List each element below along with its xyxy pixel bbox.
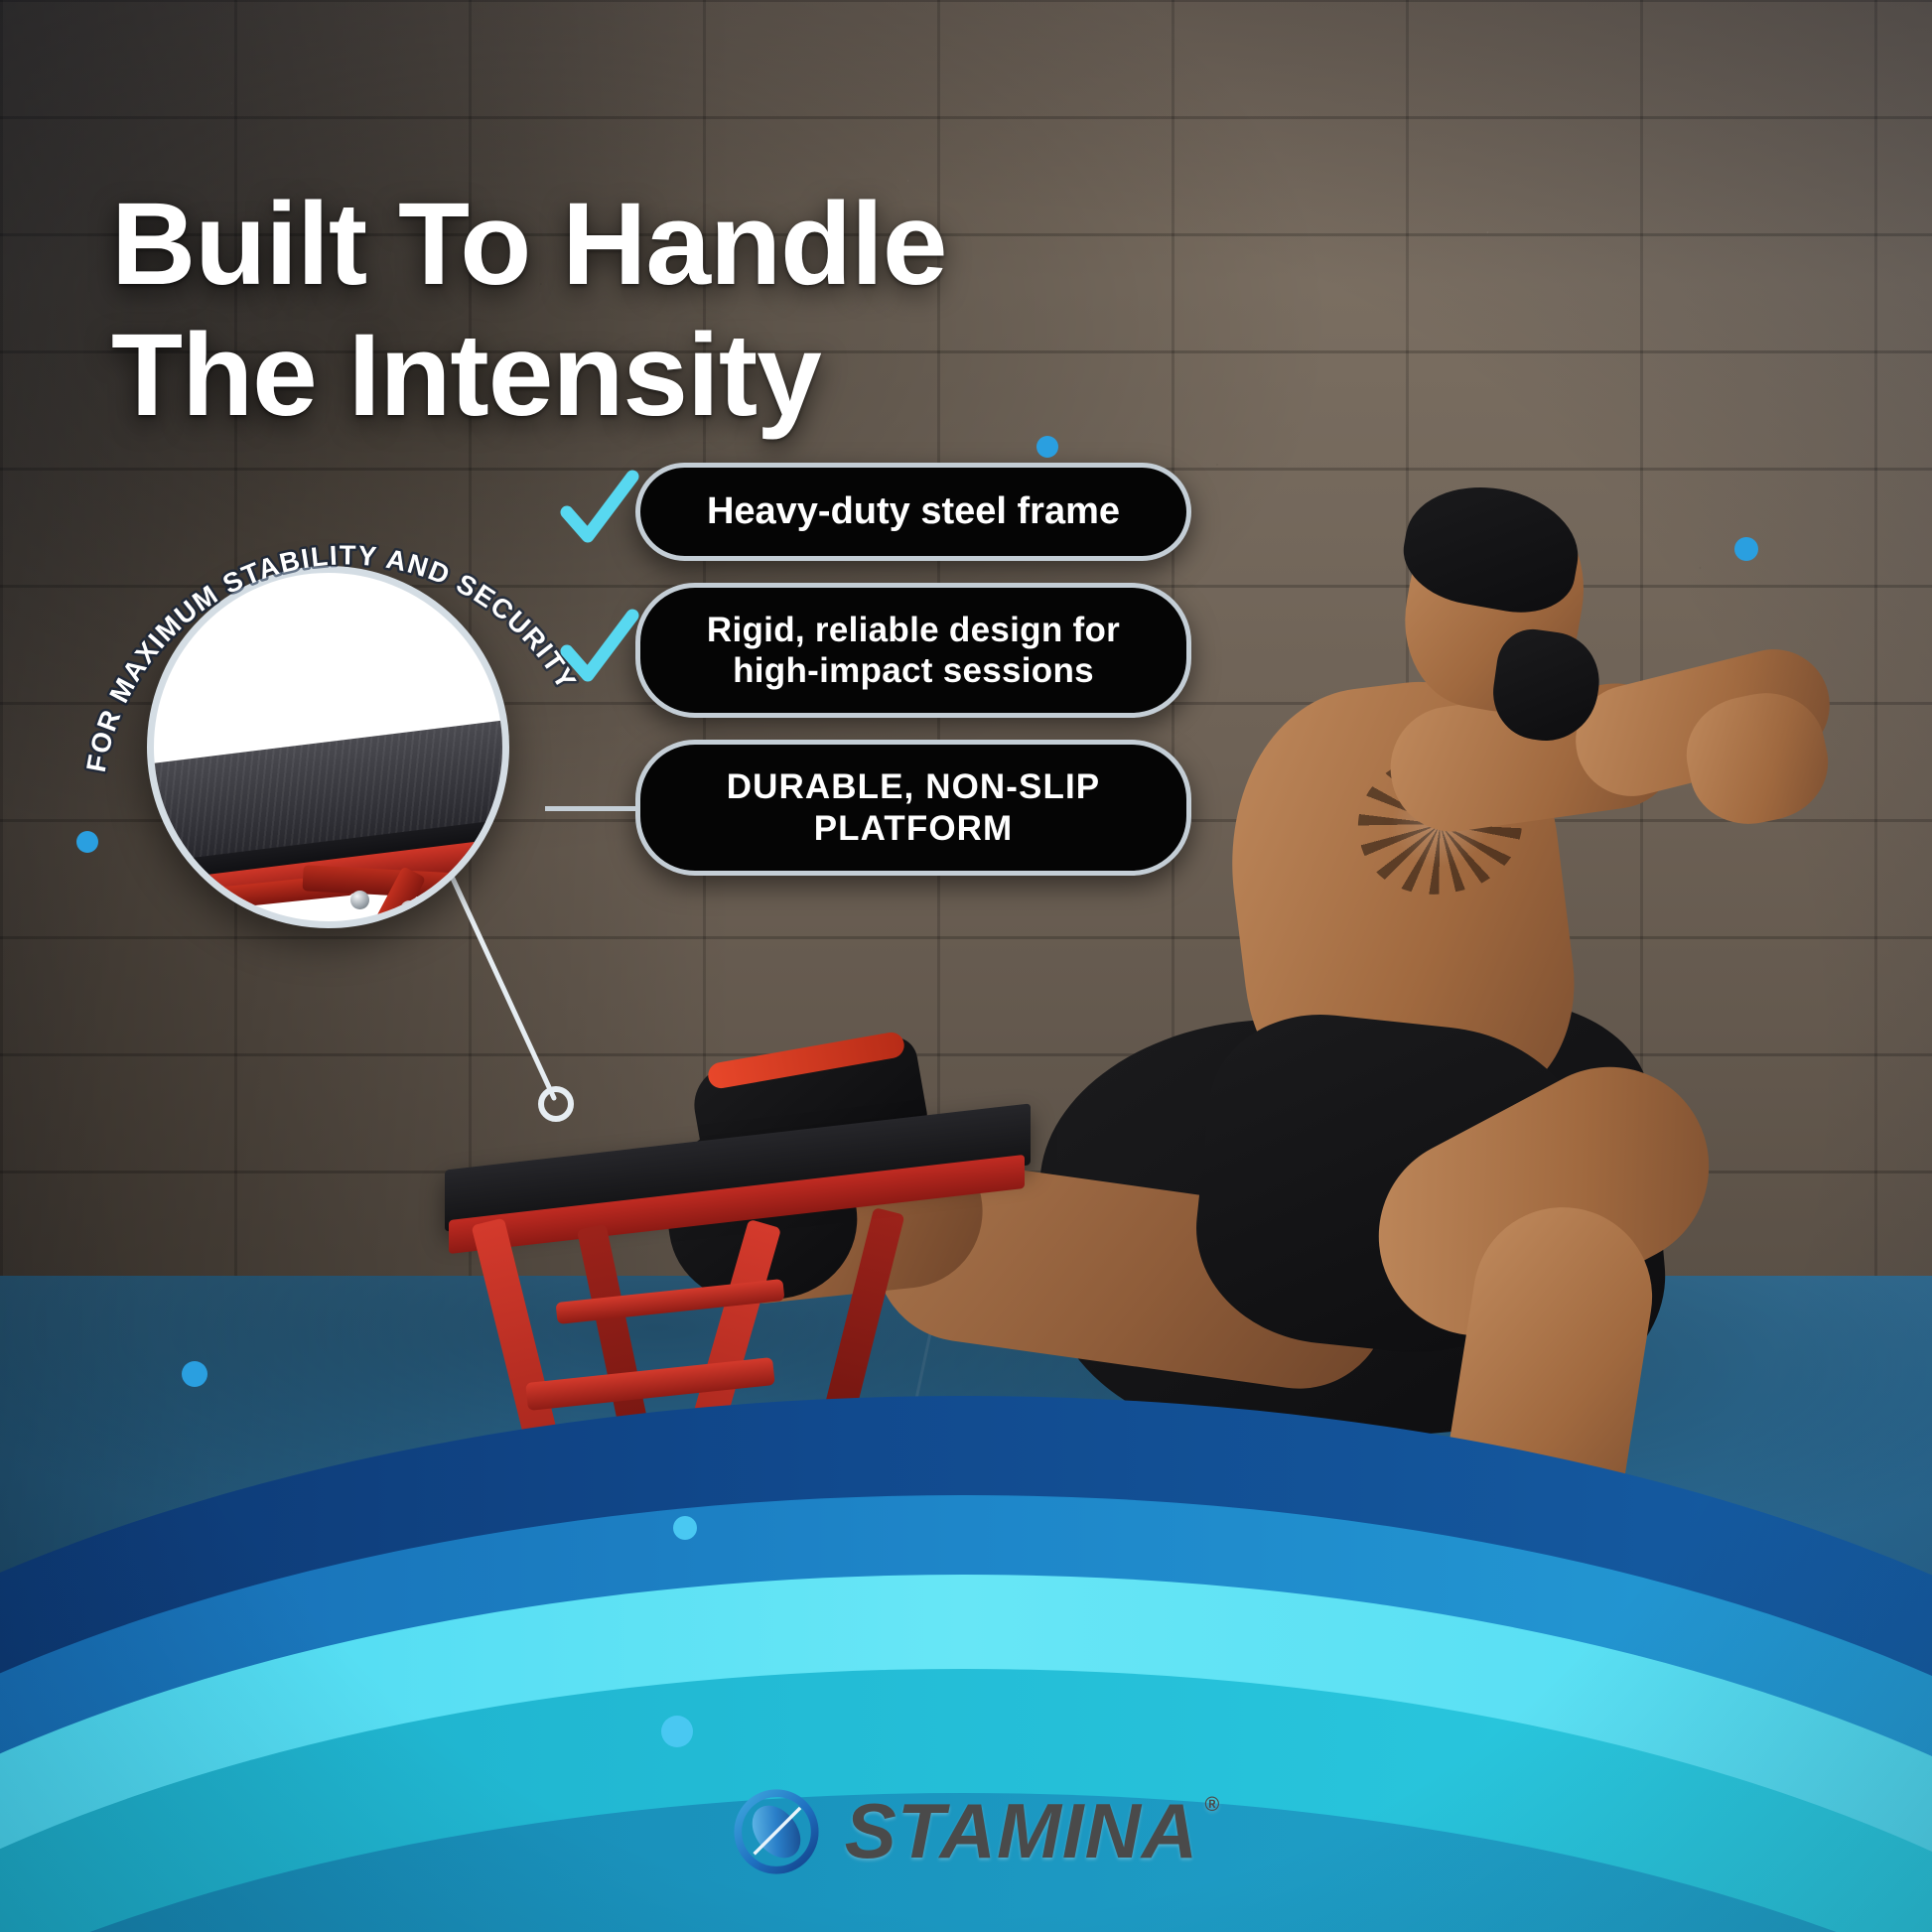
feature-pill-2-label: Rigid, reliable design for high-impact s… <box>707 611 1120 690</box>
decor-dot <box>661 1716 693 1747</box>
decor-dot <box>1036 436 1058 458</box>
check-icon <box>557 469 642 554</box>
decor-dot <box>673 1516 697 1540</box>
feature-pill-2[interactable]: Rigid, reliable design for high-impact s… <box>635 583 1191 719</box>
check-icon <box>557 608 642 693</box>
headline-line-2: The Intensity <box>111 317 1124 434</box>
feature-pill-3[interactable]: DURABLE, NON-SLIP PLATFORM <box>635 740 1191 876</box>
decor-dot <box>76 831 98 853</box>
promo-graphic: STAMINA EXTREME TRAINING SERIES Built To… <box>0 0 1932 1932</box>
bolt-icon <box>400 900 419 919</box>
brand-name-text: STAMINA <box>845 1787 1199 1874</box>
headline-line-1: Built To Handle <box>111 179 947 310</box>
bolt-icon <box>350 891 369 909</box>
stamina-circle-logo-icon <box>734 1789 819 1874</box>
decor-dot <box>182 1361 207 1387</box>
page-title: Built To Handle The Intensity <box>111 186 1124 434</box>
pill-connector-line <box>545 806 640 811</box>
feature-pill-1-label: Heavy-duty steel frame <box>707 490 1120 532</box>
decor-dot <box>1734 537 1758 561</box>
feature-list: Heavy-duty steel frame Rigid, reliable d… <box>635 463 1191 897</box>
platform-closeup-circle <box>147 566 509 928</box>
trademark-symbol: ® <box>1205 1794 1221 1817</box>
brand-name: STAMINA ® <box>845 1786 1199 1876</box>
brand-logo: STAMINA ® <box>0 1786 1932 1876</box>
feature-pill-3-label: DURABLE, NON-SLIP PLATFORM <box>727 767 1100 847</box>
feature-pill-1[interactable]: Heavy-duty steel frame <box>635 463 1191 561</box>
